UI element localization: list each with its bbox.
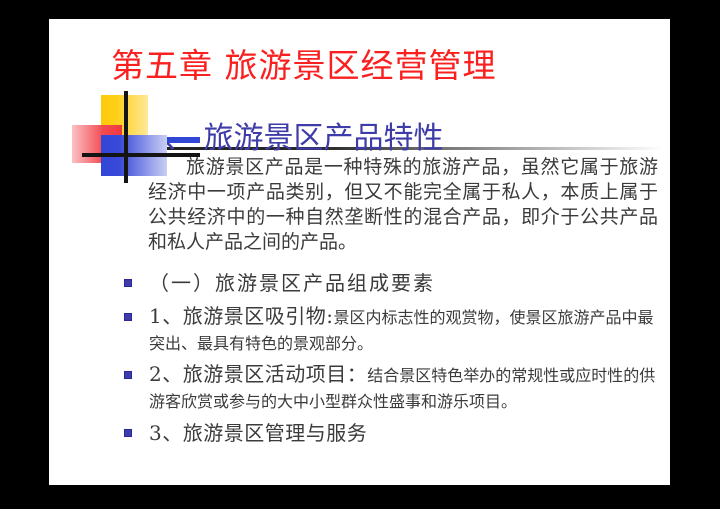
- list-item-lead: 3、旅游景区管理与服务: [149, 421, 367, 445]
- list-item-lead: 1、旅游景区吸引物:: [149, 304, 333, 328]
- list-item: 3、旅游景区管理与服务: [115, 420, 660, 448]
- list-item: 2、旅游景区活动项目：结合景区特色举办的常规性或应时性的供游客欣赏或参与的大中小…: [115, 362, 660, 414]
- square-bullet-icon: [124, 313, 132, 321]
- section-heading: 一、 旅游景区产品特性: [134, 120, 614, 158]
- list-item: （一）旅游景区产品组成要素: [115, 270, 660, 298]
- list-item-lead: 2、旅游景区活动项目：: [149, 362, 367, 386]
- square-bullet-icon: [124, 279, 132, 287]
- list-item-lead: （一）旅游景区产品组成要素: [149, 271, 435, 295]
- outline-list: （一）旅游景区产品组成要素 1、旅游景区吸引物:景区内标志性的观赏物，使景区旅游…: [115, 270, 660, 454]
- slide-letterbox-frame: 第五章 旅游景区经营管理 一、 旅游景区产品特性 旅游景区产品是一种特殊的旅游产…: [0, 0, 720, 509]
- vertical-rule-shape: [124, 91, 128, 183]
- slide-canvas: 第五章 旅游景区经营管理 一、 旅游景区产品特性 旅游景区产品是一种特殊的旅游产…: [49, 19, 670, 485]
- page-title: 第五章 旅游景区经营管理: [111, 46, 651, 86]
- list-item: 1、旅游景区吸引物:景区内标志性的观赏物，使景区旅游产品中最突出、最具有特色的景…: [115, 304, 660, 356]
- square-bullet-icon: [124, 429, 132, 437]
- lead-paragraph: 旅游景区产品是一种特殊的旅游产品，虽然它属于旅游经济中一项产品类别，但又不能完全…: [148, 155, 658, 255]
- red-square-shape: [72, 125, 122, 163]
- square-bullet-icon: [124, 371, 132, 379]
